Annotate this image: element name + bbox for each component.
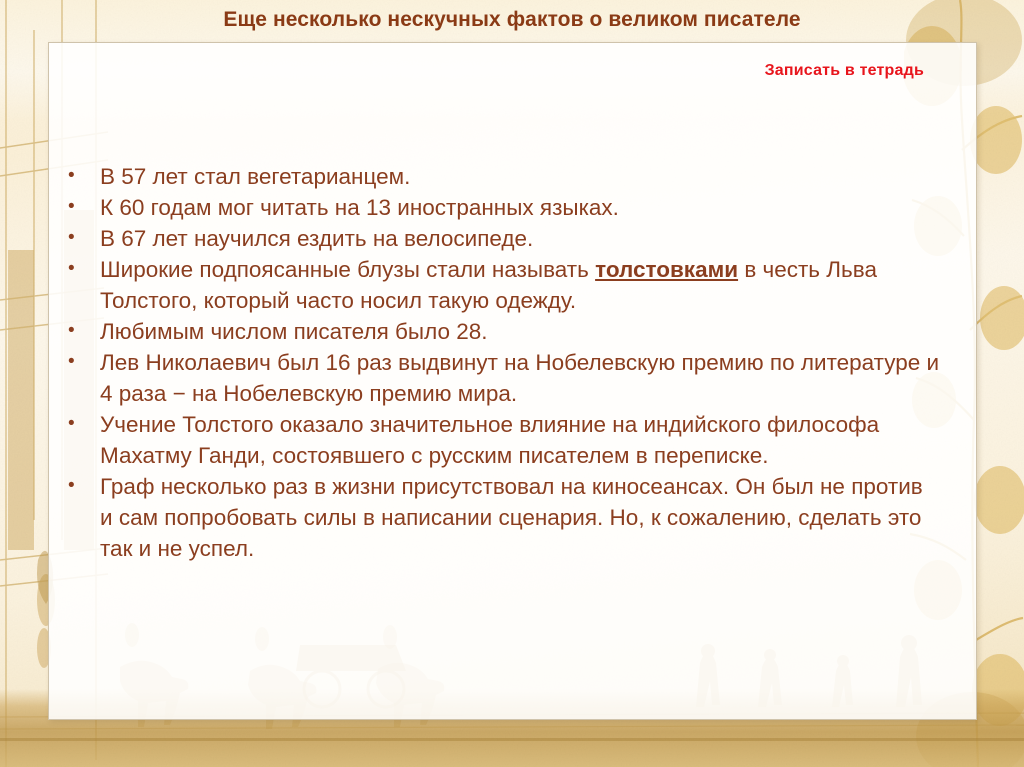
list-item: Любимым числом писателя было 28.	[49, 316, 940, 347]
list-item: Учение Толстого оказало значительное вли…	[49, 409, 940, 471]
list-item: В 57 лет стал вегетарианцем.	[49, 161, 940, 192]
note-write-in-notebook: Записать в тетрадь	[765, 62, 924, 80]
fact-text-before: Широкие подпоясанные блузы стали называт…	[100, 257, 595, 282]
slide-canvas: Еще несколько нескучных фактов о великом…	[0, 0, 1024, 767]
fact-text: Учение Толстого оказало значительное вли…	[100, 412, 879, 468]
fact-text: К 60 годам мог читать на 13 иностранных …	[100, 195, 619, 220]
list-item: Широкие подпоясанные блузы стали называт…	[49, 254, 940, 316]
fact-text: Лев Николаевич был 16 раз выдвинут на Но…	[100, 350, 939, 406]
list-item: К 60 годам мог читать на 13 иностранных …	[49, 192, 940, 223]
list-item: Лев Николаевич был 16 раз выдвинут на Но…	[49, 347, 940, 409]
fact-text: Любимым числом писателя было 28.	[100, 319, 488, 344]
facts-list: В 57 лет стал вегетарианцем. К 60 годам …	[49, 161, 966, 564]
content-card-inner: Записать в тетрадь В 57 лет стал вегетар…	[49, 43, 976, 719]
fact-text: В 57 лет стал вегетарианцем.	[100, 164, 410, 189]
fact-text: Граф несколько раз в жизни присутствовал…	[100, 474, 923, 561]
page-title: Еще несколько нескучных фактов о великом…	[0, 6, 1024, 34]
fact-emphasis-tolstovkami: толстовками	[595, 257, 738, 282]
content-card: Записать в тетрадь В 57 лет стал вегетар…	[48, 42, 977, 720]
list-item: В 67 лет научился ездить на велосипеде.	[49, 223, 940, 254]
fact-text: В 67 лет научился ездить на велосипеде.	[100, 226, 533, 251]
list-item: Граф несколько раз в жизни присутствовал…	[49, 471, 940, 564]
